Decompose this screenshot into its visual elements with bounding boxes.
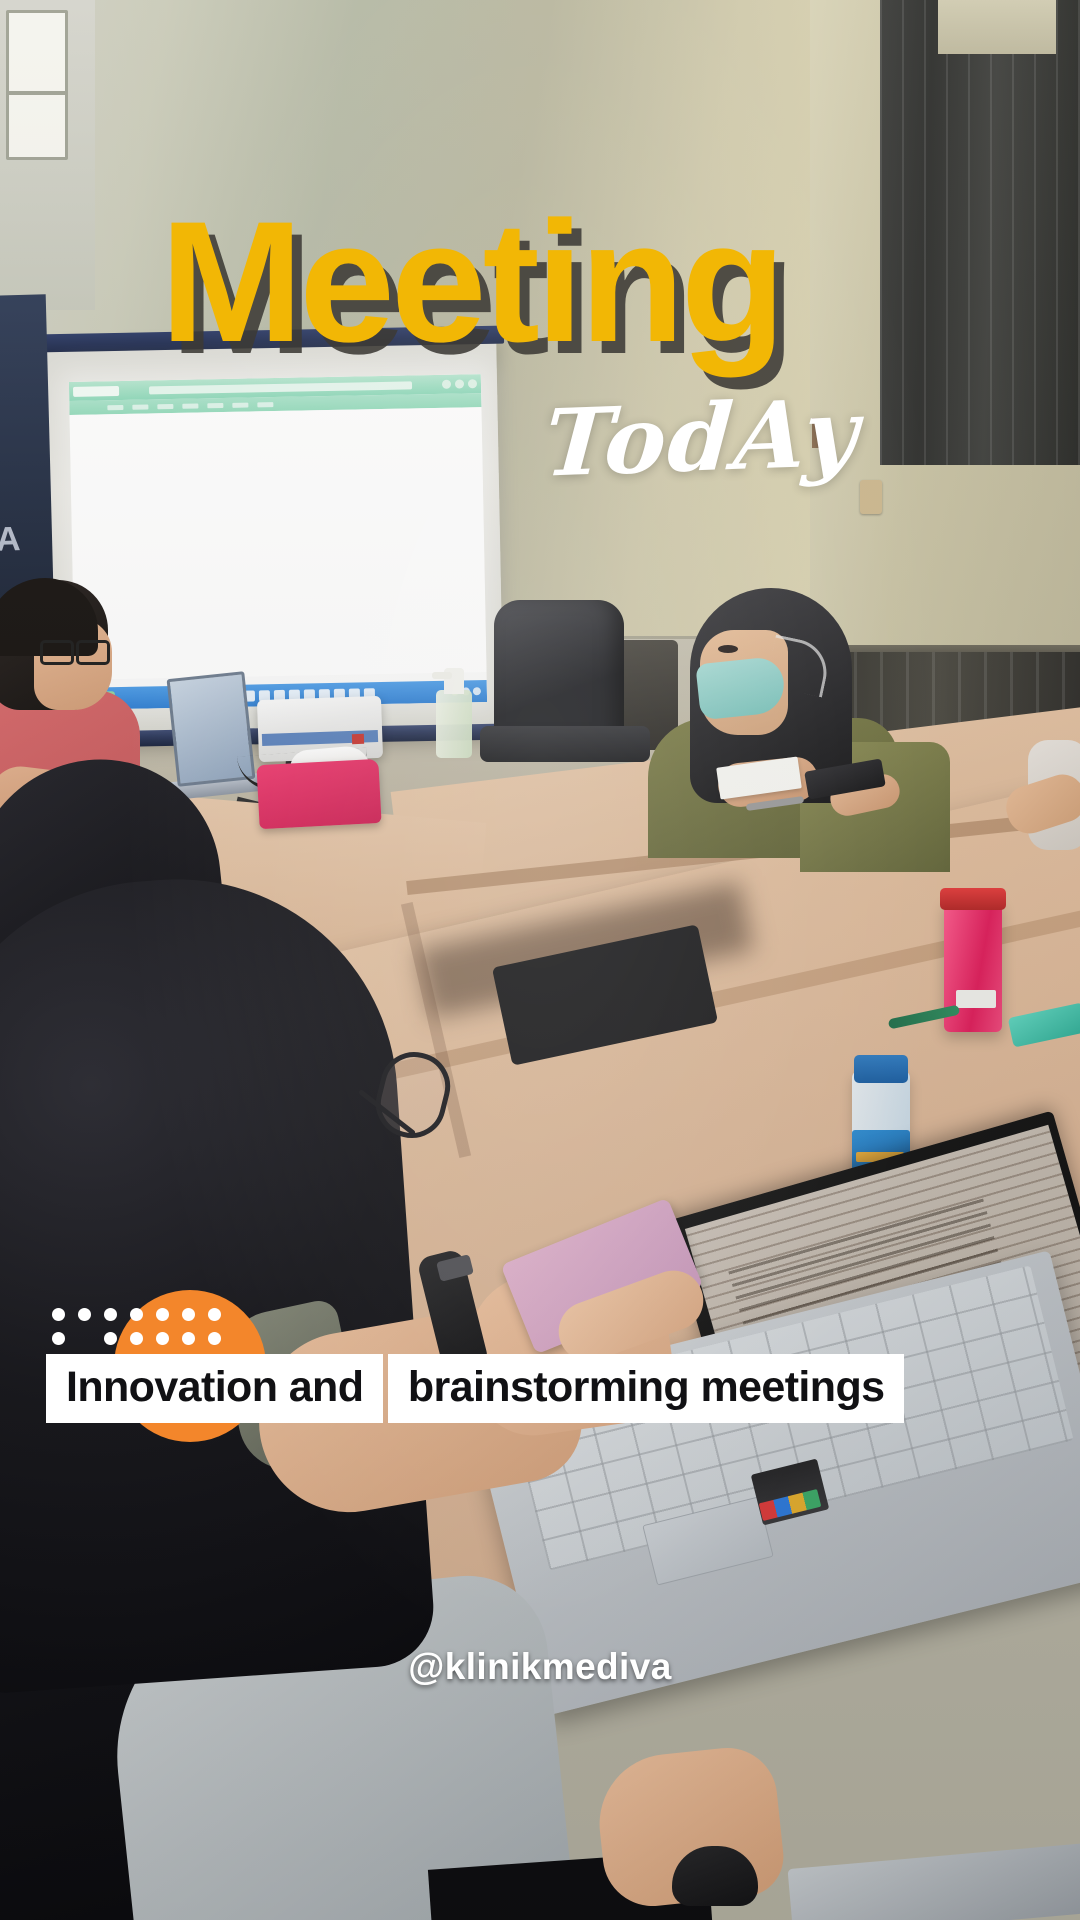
office-chair-seat (480, 726, 650, 762)
tumbler-cap (940, 888, 1006, 910)
menu-item (207, 403, 223, 408)
account-handle: @klinikmediva (0, 1646, 1080, 1688)
story-canvas: A (0, 0, 1080, 1920)
sanitiser-nozzle (432, 672, 452, 679)
titlebar-icon (455, 379, 464, 388)
tumbler-label (956, 990, 996, 1008)
menu-item (132, 404, 148, 409)
door-upper-panel (880, 0, 1080, 465)
door-slats (880, 0, 1080, 465)
door-transom (938, 0, 1056, 54)
titlebar-icon (468, 379, 477, 388)
grid-dot (104, 1332, 117, 1345)
water-bottle-cap (854, 1055, 908, 1083)
grid-dot (130, 1308, 143, 1321)
titlebar-icon (442, 380, 451, 389)
caption-line-1: Innovation and (46, 1354, 383, 1423)
titlebar-pill (73, 386, 119, 397)
grid-dot (182, 1308, 195, 1321)
grid-dot (156, 1308, 169, 1321)
man-glasses (40, 640, 110, 662)
bottom-laptop (788, 1843, 1080, 1920)
grid-dot (78, 1308, 91, 1321)
board-letter: A (0, 519, 57, 560)
title-today-script: TodAy (542, 386, 863, 489)
menu-item (232, 402, 248, 407)
hand-sanitiser-bottle (436, 690, 472, 758)
grid-dot (104, 1308, 117, 1321)
grid-dot (52, 1332, 65, 1345)
menu-item (107, 404, 123, 409)
woman-eye (718, 645, 738, 653)
grid-dot (208, 1332, 221, 1345)
wall-switch (860, 480, 882, 514)
window (6, 10, 68, 160)
caption-block: Innovation and brainstorming meetings (46, 1348, 904, 1423)
titlebar-field (149, 381, 412, 394)
title-meeting: Meeting (160, 196, 782, 368)
grid-dot (208, 1308, 221, 1321)
projected-document-body (70, 407, 487, 680)
grid-dot (182, 1332, 195, 1345)
grid-dot (52, 1308, 65, 1321)
projected-desktop (69, 374, 487, 710)
grid-dot (78, 1332, 91, 1345)
grid-dot (156, 1332, 169, 1345)
tray-icon (473, 687, 481, 695)
menu-item (257, 402, 273, 407)
grid-dot (130, 1332, 143, 1345)
menu-item (182, 403, 198, 408)
dark-board (0, 294, 54, 625)
menu-item (157, 403, 173, 408)
projector-indicator (352, 734, 364, 744)
tissue-box (256, 759, 381, 829)
caption-line-2: brainstorming meetings (388, 1354, 905, 1423)
